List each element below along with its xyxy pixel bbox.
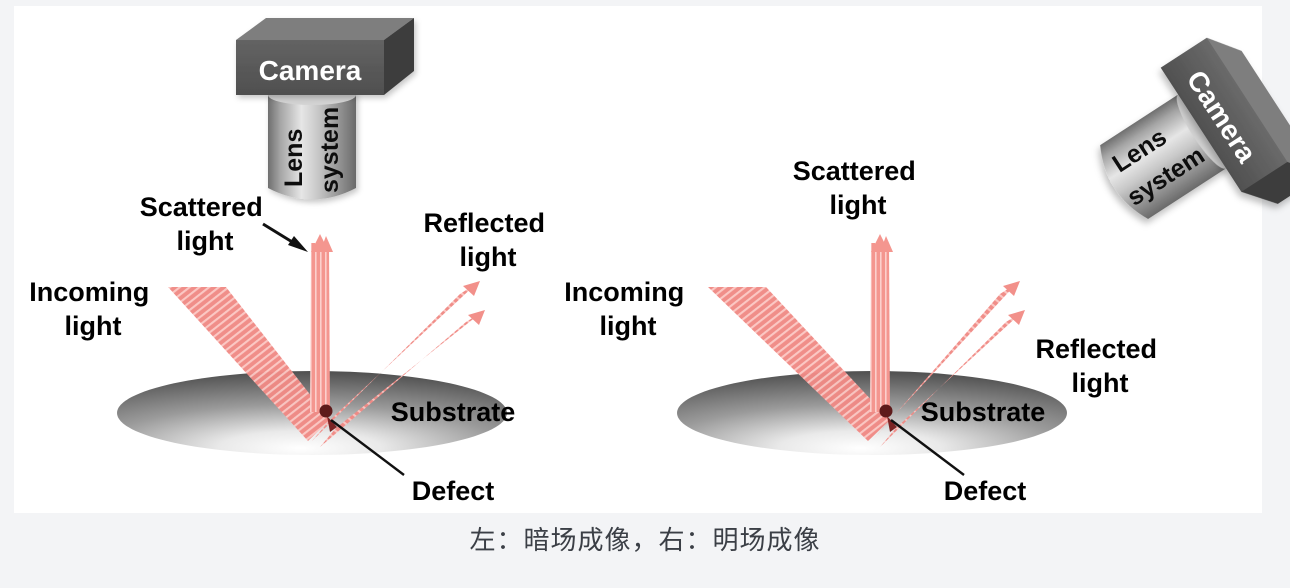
scattered-beam-left bbox=[310, 234, 333, 412]
incoming-light-label-right: Incoming light bbox=[564, 277, 692, 341]
figure-caption: 左：暗场成像，右：明场成像 bbox=[0, 520, 1290, 557]
defect-label-left: Defect bbox=[412, 476, 495, 506]
camera-label-left: Camera bbox=[259, 55, 362, 86]
incoming-light-label-left: Incoming light bbox=[29, 277, 157, 341]
camera-assembly-right: Lens system Camera bbox=[1073, 26, 1290, 274]
panel-dark-field: Lens system Camera Scattered bbox=[29, 18, 552, 506]
reflected-light-label-right: Reflected light bbox=[1035, 334, 1164, 398]
substrate-label-right: Substrate bbox=[921, 397, 1046, 427]
reflected-light-label-left: Reflected light bbox=[423, 208, 552, 272]
scattered-light-arrow-left bbox=[263, 224, 308, 252]
diagram-stage: Lens system Camera Scattered bbox=[0, 0, 1290, 513]
defect-label-right: Defect bbox=[944, 476, 1027, 506]
scattered-light-label-left: Scattered light bbox=[140, 192, 271, 256]
figure-root: Lens system Camera Scattered bbox=[0, 0, 1290, 588]
lens-system-label-left: Lens bbox=[280, 129, 308, 187]
lens-system-label2-left: system bbox=[316, 107, 344, 193]
scattered-beam-right bbox=[870, 234, 893, 412]
panel-bright-field: Lens system Camera Scattered light bbox=[564, 26, 1290, 506]
substrate-label-left: Substrate bbox=[391, 397, 516, 427]
scattered-light-label-right: Scattered light bbox=[793, 156, 924, 220]
